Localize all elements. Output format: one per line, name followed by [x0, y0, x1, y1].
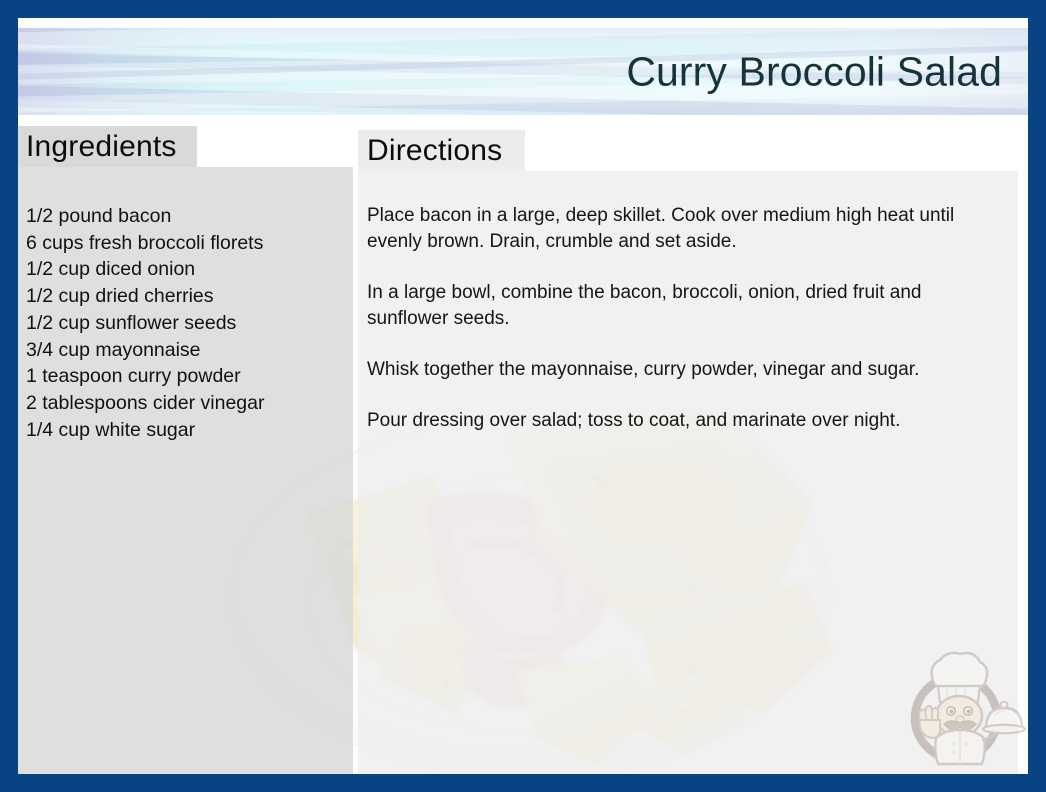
ingredient-item: 1/2 cup dried cherries — [26, 283, 343, 310]
recipe-slide: Curry Broccoli Salad — [0, 0, 1046, 792]
direction-step: Whisk together the mayonnaise, curry pow… — [367, 357, 996, 383]
ingredient-item: 1/2 cup sunflower seeds — [26, 310, 343, 337]
direction-step: Pour dressing over salad; toss to coat, … — [367, 408, 996, 434]
ingredient-item: 1/2 pound bacon — [26, 203, 343, 230]
ingredient-item: 6 cups fresh broccoli florets — [26, 230, 343, 257]
direction-step: Place bacon in a large, deep skillet. Co… — [367, 203, 996, 255]
title-banner: Curry Broccoli Salad — [18, 28, 1028, 115]
ingredient-item: 1/2 cup diced onion — [26, 256, 343, 283]
ingredients-header-tab: Ingredients — [18, 126, 197, 167]
directions-header-tab: Directions — [358, 130, 525, 171]
ingredient-item: 3/4 cup mayonnaise — [26, 337, 343, 364]
page-title: Curry Broccoli Salad — [626, 48, 1002, 95]
slide-canvas: Curry Broccoli Salad — [18, 18, 1028, 774]
direction-step: In a large bowl, combine the bacon, broc… — [367, 280, 996, 332]
ingredient-item: 2 tablespoons cider vinegar — [26, 390, 343, 417]
ingredients-heading: Ingredients — [26, 130, 177, 164]
ingredient-item: 1 teaspoon curry powder — [26, 363, 343, 390]
directions-panel: Place bacon in a large, deep skillet. Co… — [358, 171, 1018, 774]
directions-heading: Directions — [367, 134, 502, 168]
ingredients-panel: 1/2 pound bacon 6 cups fresh broccoli fl… — [18, 167, 353, 774]
ingredient-item: 1/4 cup white sugar — [26, 417, 343, 444]
